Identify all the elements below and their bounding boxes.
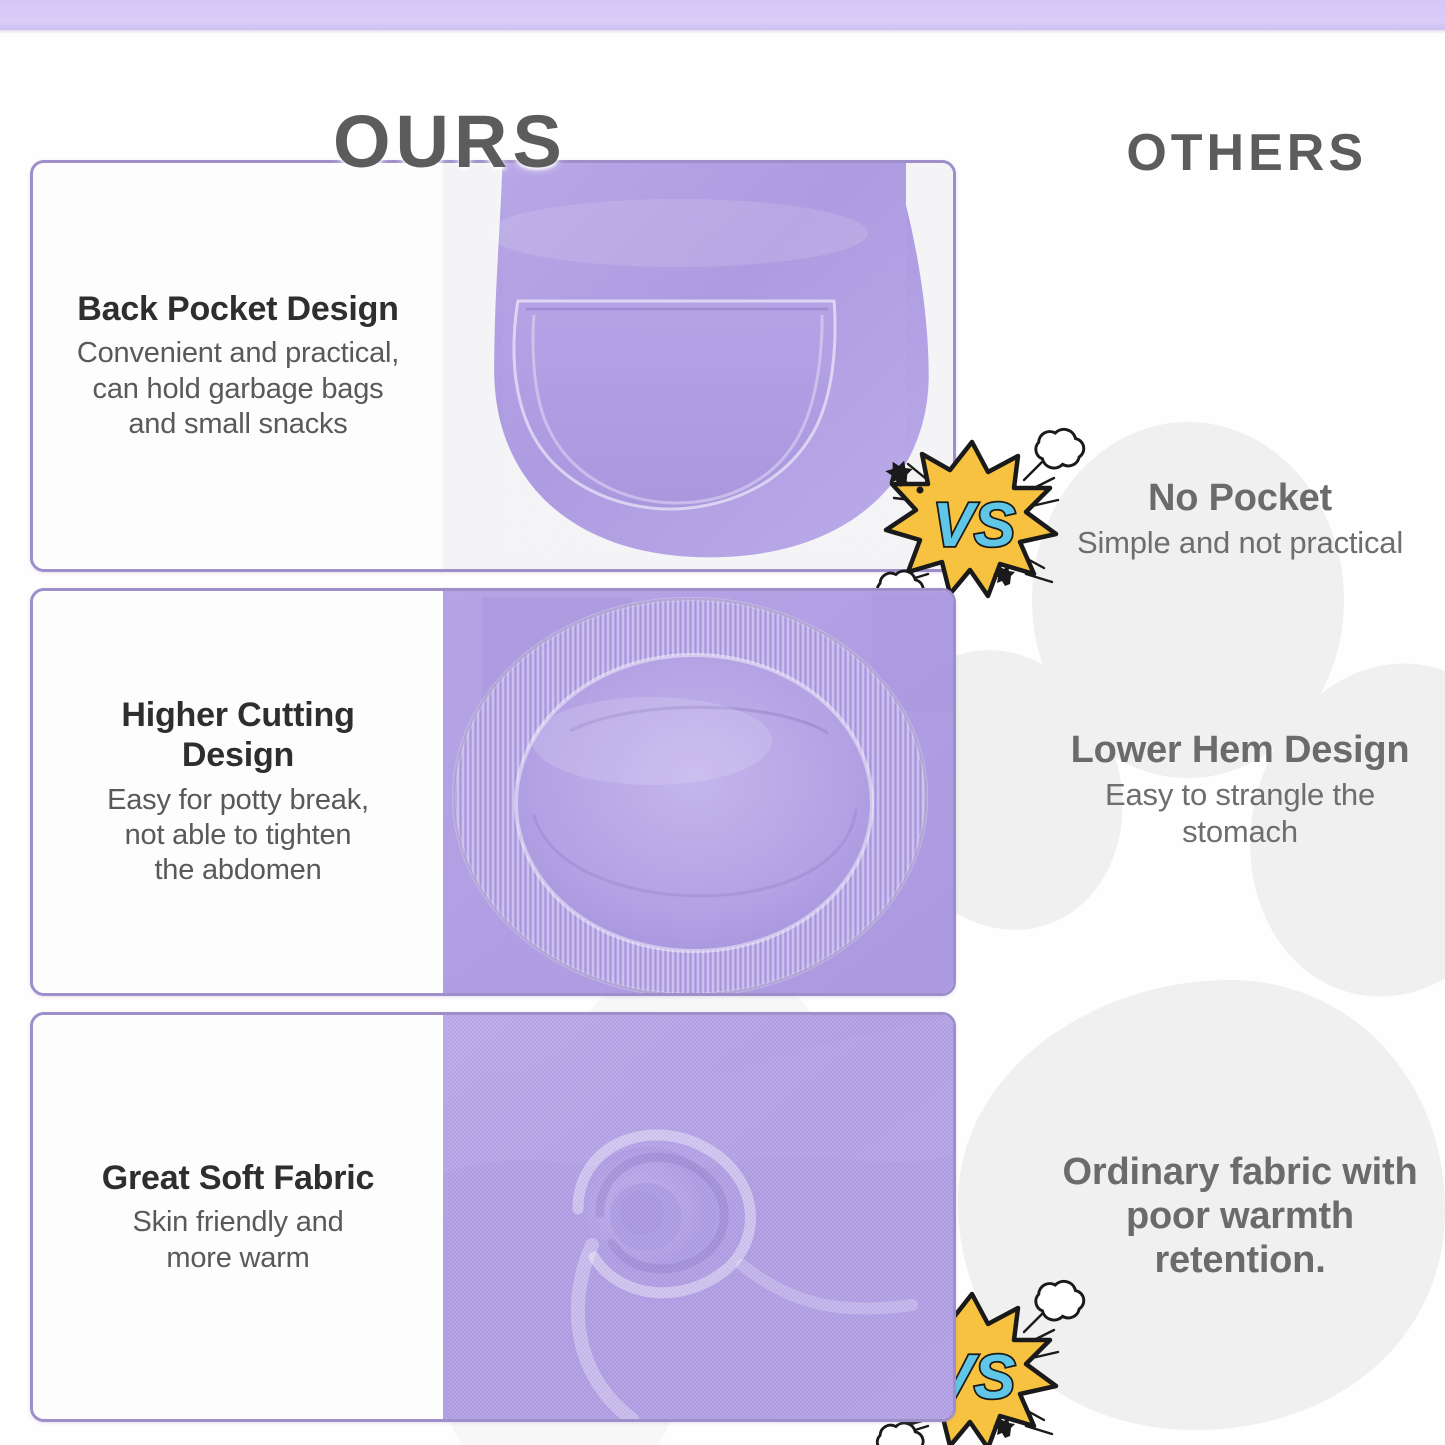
ours-card-1: Back Pocket Design Convenient and practi…	[30, 160, 956, 572]
ours-card-3-title: Great Soft Fabric	[102, 1158, 374, 1198]
ours-card-1-title: Back Pocket Design	[77, 289, 398, 329]
ours-card-1-photo	[443, 163, 953, 569]
others-subtitle-1: Simple and not practical	[1005, 524, 1445, 561]
ours-card-3-text: Great Soft Fabric Skin friendly and more…	[33, 1015, 443, 1419]
others-text-2: Lower Hem Design Easy to strangle the st…	[1005, 728, 1445, 850]
headers-row: OURS OTHERS	[0, 52, 1445, 142]
ours-card-1-subtitle: Convenient and practical, can hold garba…	[77, 336, 399, 442]
top-accent-band	[0, 0, 1445, 30]
others-title-3: Ordinary fabric with poor warmth retenti…	[1005, 1150, 1445, 1282]
comparison-row-1: Back Pocket Design Convenient and practi…	[30, 160, 956, 572]
others-text-3: Ordinary fabric with poor warmth retenti…	[1005, 1150, 1445, 1286]
comparison-row-2: Higher Cutting Design Easy for potty bre…	[30, 588, 956, 996]
others-subtitle-2: Easy to strangle the stomach	[1005, 776, 1445, 850]
ours-card-2-photo	[443, 591, 953, 993]
ours-header: OURS	[333, 102, 567, 182]
soft-knit-fabric-photo	[443, 1015, 953, 1419]
ours-card-3-photo	[443, 1015, 953, 1419]
ours-card-2-title: Higher Cutting Design	[121, 695, 354, 775]
ours-card-3: Great Soft Fabric Skin friendly and more…	[30, 1012, 956, 1422]
ours-card-2-subtitle: Easy for potty break, not able to tighte…	[107, 783, 369, 889]
others-header: OTHERS	[1126, 124, 1367, 182]
top-accent-band-shadow	[0, 30, 1445, 34]
others-title-2: Lower Hem Design	[1005, 728, 1445, 772]
ours-card-2-text: Higher Cutting Design Easy for potty bre…	[33, 591, 443, 993]
ours-card-2: Higher Cutting Design Easy for potty bre…	[30, 588, 956, 996]
hoodie-back-pocket-photo	[443, 163, 953, 569]
comparison-infographic: OURS OTHERS Back Pocket Design Convenien…	[0, 0, 1445, 1445]
ours-card-1-text: Back Pocket Design Convenient and practi…	[33, 163, 443, 569]
others-title-1: No Pocket	[1005, 476, 1445, 520]
ours-card-3-subtitle: Skin friendly and more warm	[133, 1205, 344, 1276]
comparison-row-3: Great Soft Fabric Skin friendly and more…	[30, 1012, 956, 1422]
others-text-1: No Pocket Simple and not practical	[1005, 476, 1445, 561]
ribbed-hem-opening-photo	[443, 591, 953, 993]
